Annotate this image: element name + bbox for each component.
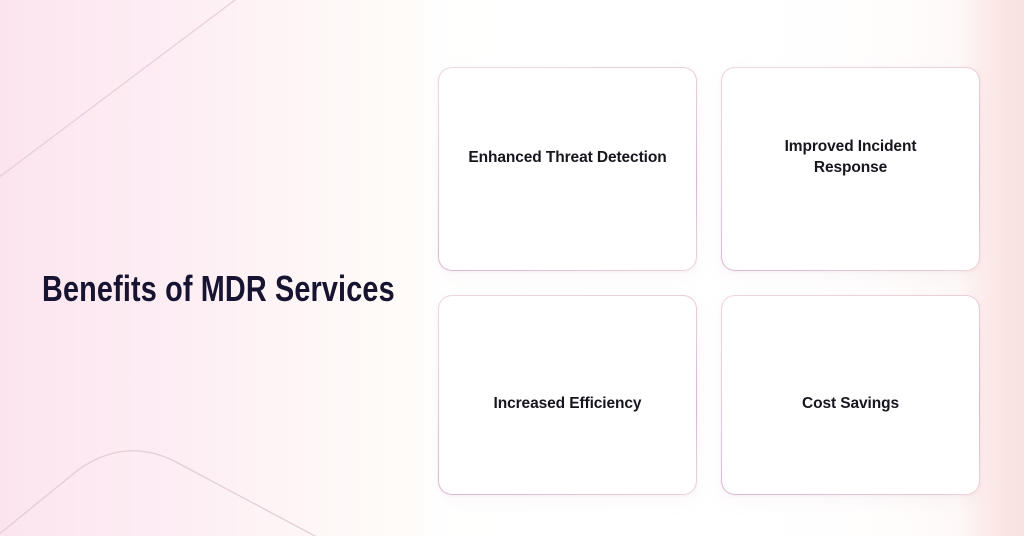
benefit-card-improved-incident-response[interactable]: Improved Incident Response bbox=[721, 67, 980, 271]
benefit-card-label: Improved Incident Response bbox=[751, 136, 951, 178]
benefit-card-label: Increased Efficiency bbox=[494, 393, 642, 414]
benefits-card-grid: Enhanced Threat Detection Improved Incid… bbox=[438, 67, 980, 495]
benefit-card-cost-savings[interactable]: Cost Savings bbox=[721, 295, 980, 495]
benefit-card-enhanced-threat-detection[interactable]: Enhanced Threat Detection bbox=[438, 67, 697, 271]
infographic-slide: Benefits of MDR Services Enhanced Threat… bbox=[0, 0, 1024, 536]
benefit-card-label: Cost Savings bbox=[802, 393, 899, 414]
benefit-card-label: Enhanced Threat Detection bbox=[468, 147, 666, 168]
page-title: Benefits of MDR Services bbox=[42, 267, 395, 311]
benefit-card-increased-efficiency[interactable]: Increased Efficiency bbox=[438, 295, 697, 495]
